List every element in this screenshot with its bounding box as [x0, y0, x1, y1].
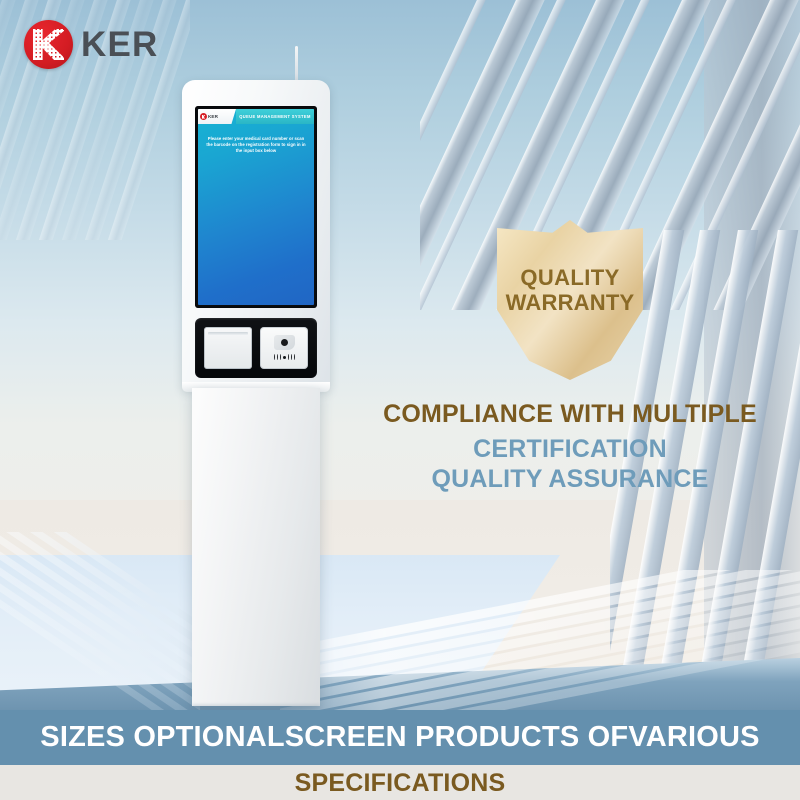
pixel-k-glyph	[33, 29, 64, 60]
display-title-bar: QUEUE MANAGEMENT SYSTEM	[236, 109, 314, 124]
display-header: KER QUEUE MANAGEMENT SYSTEM	[198, 109, 314, 124]
banner-title: SIZES OPTIONALSCREEN PRODUCTS OFVARIOUS	[40, 721, 759, 754]
headline-primary: COMPLIANCE WITH MULTIPLE	[360, 400, 780, 429]
headline-secondary-certification: CERTIFICATION	[360, 434, 780, 465]
poster-canvas: KER KER QUEUE MANAGEMENT SYSTEM Pl	[0, 0, 800, 800]
display-ker-logo-icon: KER	[198, 109, 236, 124]
kiosk-display[interactable]: KER QUEUE MANAGEMENT SYSTEM Please enter…	[195, 106, 317, 308]
nfc-contactless-reader-icon[interactable]	[260, 327, 308, 369]
ker-pixel-k-logo-icon	[24, 20, 73, 69]
brand-logo: KER	[24, 20, 159, 69]
kiosk-head: KER QUEUE MANAGEMENT SYSTEM Please enter…	[182, 80, 330, 390]
kiosk-pedestal	[192, 388, 320, 706]
kiosk-io-panel	[195, 318, 317, 378]
nfc-card-glyph	[274, 335, 295, 350]
display-content: KER QUEUE MANAGEMENT SYSTEM Please enter…	[198, 109, 314, 305]
logo-dot-icon	[200, 113, 207, 120]
display-header-title: QUEUE MANAGEMENT SYSTEM	[239, 114, 311, 119]
headline-secondary-quality-assurance: QUALITY ASSURANCE	[360, 464, 780, 495]
shield-label-line2: WARRANTY	[497, 290, 643, 315]
printer-slot-icon[interactable]	[204, 327, 252, 369]
nfc-wave-glyph	[273, 353, 296, 362]
quality-warranty-badge: QUALITY WARRANTY	[497, 220, 643, 380]
kiosk-product: KER QUEUE MANAGEMENT SYSTEM Please enter…	[174, 30, 334, 710]
banner-subtitle: SPECIFICATIONS	[295, 769, 506, 798]
display-logo-text: KER	[208, 114, 218, 119]
shield-label-line1: QUALITY	[497, 265, 643, 290]
headline-block: COMPLIANCE WITH MULTIPLE CERTIFICATION Q…	[360, 400, 780, 495]
banner-secondary-bar: SPECIFICATIONS	[0, 765, 800, 800]
background-right-wall	[704, 0, 800, 690]
brand-name: KER	[81, 27, 159, 62]
display-instruction-text: Please enter your medical card number or…	[204, 136, 308, 154]
shield-label: QUALITY WARRANTY	[497, 265, 643, 315]
bottom-banner: SIZES OPTIONALSCREEN PRODUCTS OFVARIOUS …	[0, 710, 800, 800]
banner-primary-bar: SIZES OPTIONALSCREEN PRODUCTS OFVARIOUS	[0, 710, 800, 765]
